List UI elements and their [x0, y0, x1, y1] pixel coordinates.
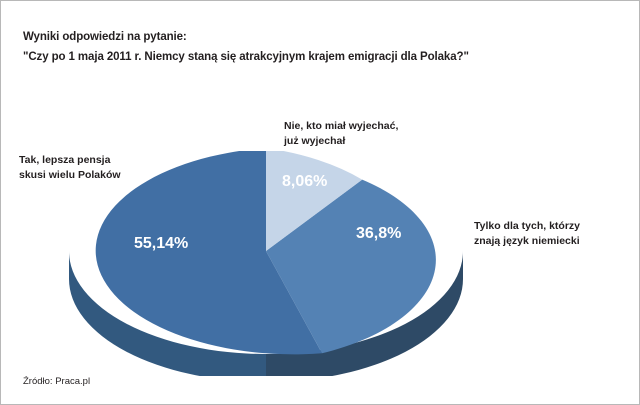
slice-value-nie: 8,06% [282, 173, 327, 191]
slice-value-tak: 55,14% [134, 235, 188, 253]
chart-title-line-1: Wyniki odpowiedzi na pytanie: [23, 27, 623, 47]
slice-label-tylko-line-2: znają język niemiecki [474, 234, 580, 249]
slice-label-tylko: Tylko dla tych, którzy znają język niemi… [474, 219, 580, 249]
slice-label-nie-line-2: już wyjechał [284, 134, 398, 149]
pie-chart [61, 151, 481, 376]
slice-label-nie-line-1: Nie, kto miał wyjechać, [284, 119, 398, 134]
pie-chart-svg [61, 151, 481, 376]
chart-title-line-2: "Czy po 1 maja 2011 r. Niemcy staną się … [23, 47, 623, 67]
chart-canvas: Wyniki odpowiedzi na pytanie: "Czy po 1 … [0, 0, 640, 405]
source-note: Źródło: Praca.pl [23, 376, 90, 387]
chart-title: Wyniki odpowiedzi na pytanie: "Czy po 1 … [23, 27, 623, 67]
slice-label-nie: Nie, kto miał wyjechać, już wyjechał [284, 119, 398, 149]
slice-value-tylko: 36,8% [356, 225, 401, 243]
slice-label-tylko-line-1: Tylko dla tych, którzy [474, 219, 580, 234]
